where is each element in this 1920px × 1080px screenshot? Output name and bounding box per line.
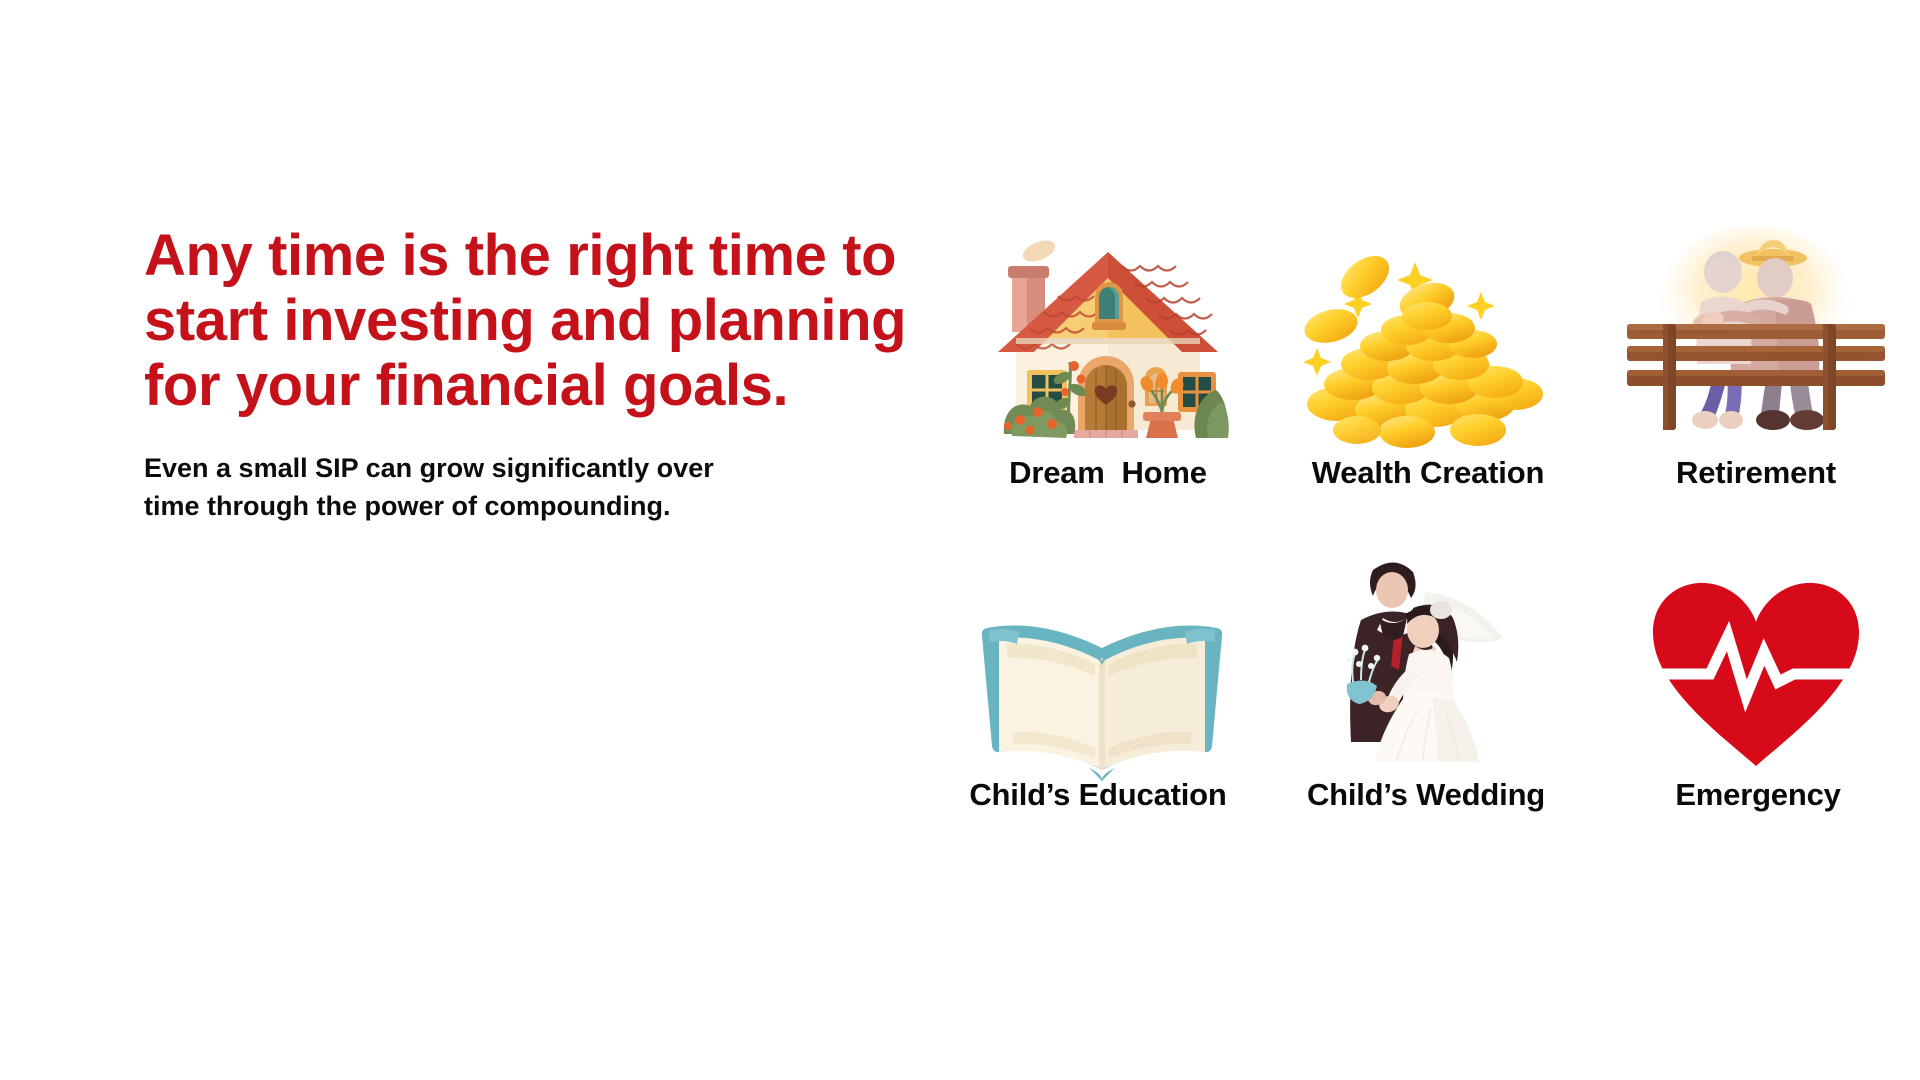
open-book-illustration: [967, 567, 1237, 782]
goal-item-wealth-creation: Wealth Creation: [1275, 190, 1585, 490]
goal-label: Child’s Education: [969, 778, 1226, 812]
page-title: Any time is the right time to start inve…: [144, 224, 964, 419]
headline-line-3: for your financial goals.: [144, 354, 964, 419]
subheadline-line-1: Even a small SIP can grow significantly …: [144, 449, 864, 487]
goal-label: Wealth Creation: [1312, 456, 1544, 490]
slide-canvas: Any time is the right time to start inve…: [0, 0, 1920, 1080]
goal-label: Dream Home: [1009, 456, 1207, 490]
headline-line-2: start investing and planning: [144, 289, 964, 354]
financial-goals-grid: Dream Home: [965, 190, 1895, 812]
subheadline: Even a small SIP can grow significantly …: [144, 449, 864, 526]
goal-item-emergency: Emergency: [1585, 512, 1895, 812]
goal-item-childs-wedding: Child’s Wedding: [1275, 512, 1585, 812]
heart-with-heartbeat-icon: [1621, 559, 1891, 774]
headline-block: Any time is the right time to start inve…: [144, 224, 964, 526]
goal-label: Retirement: [1676, 456, 1836, 490]
cottage-house-illustration: [973, 231, 1243, 446]
headline-line-1: Any time is the right time to: [144, 224, 964, 289]
goal-item-dream-home: Dream Home: [965, 190, 1275, 490]
subheadline-line-2: time through the power of compounding.: [144, 487, 864, 525]
wedding-couple-illustration: [1293, 547, 1563, 762]
goal-label: Emergency: [1675, 778, 1840, 812]
goal-item-retirement: Retirement: [1585, 190, 1895, 490]
goal-item-childs-education: Child’s Education: [965, 512, 1275, 812]
goal-label: Child’s Wedding: [1307, 778, 1545, 812]
gold-coins-pile-illustration: [1293, 237, 1563, 452]
elderly-couple-on-bench-illustration: [1621, 223, 1891, 438]
